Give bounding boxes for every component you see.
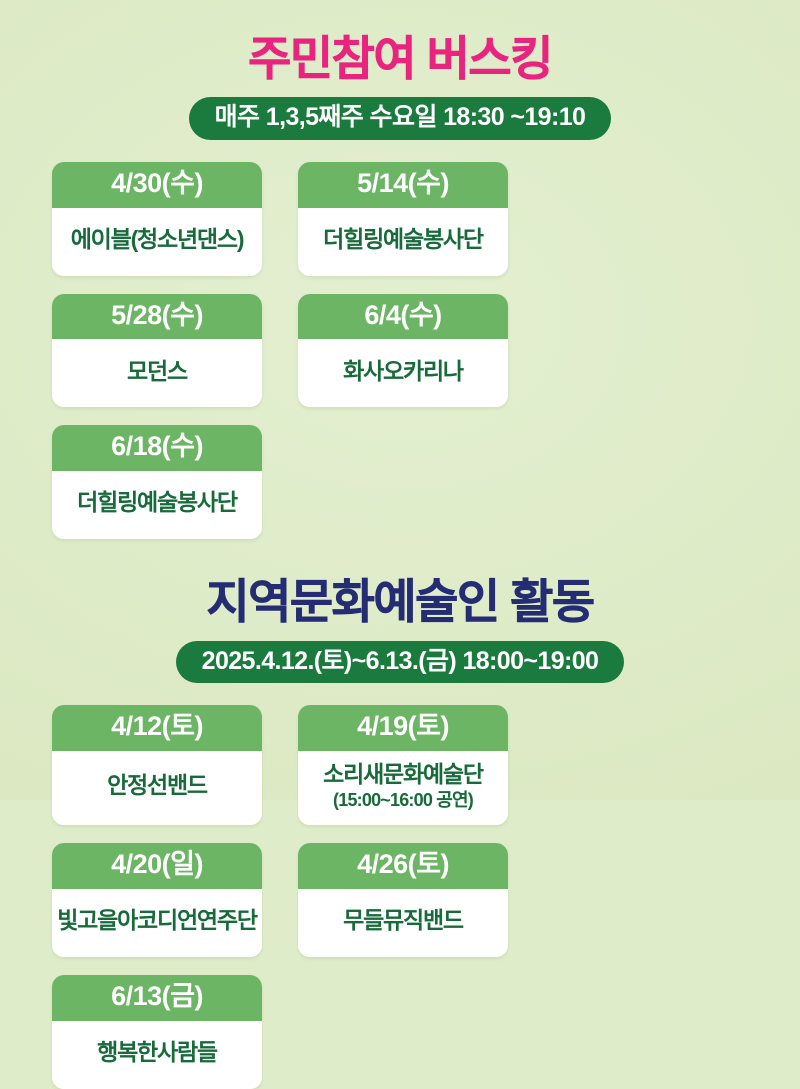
event-card[interactable]: 5/28(수) 모던스: [52, 294, 262, 408]
event-card[interactable]: 6/4(수) 화사오카리나: [298, 294, 508, 408]
section-title-local-artists: 지역문화예술인 활동: [206, 577, 593, 626]
event-card-date: 5/28(수): [52, 294, 262, 340]
event-card-name: 더힐링예술봉사단: [77, 489, 237, 517]
event-card-body: 빛고을아코디언연주단: [52, 889, 262, 957]
event-card[interactable]: 4/12(토) 안정선밴드: [52, 705, 262, 825]
event-card-name: 안정선밴드: [107, 772, 207, 800]
event-card-name: 더힐링예술봉사단: [323, 226, 483, 254]
event-card[interactable]: 4/20(일) 빛고을아코디언연주단: [52, 843, 262, 957]
event-card-name: 행복한사람들: [97, 1039, 217, 1067]
event-card-date: 4/30(수): [52, 162, 262, 208]
event-card-name: 에이블(청소년댄스): [71, 226, 244, 254]
event-card-date: 6/4(수): [298, 294, 508, 340]
section-title-busking: 주민참여 버스킹: [248, 34, 552, 83]
event-card-body: 에이블(청소년댄스): [52, 208, 262, 276]
event-card-body: 행복한사람들: [52, 1021, 262, 1089]
event-card[interactable]: 5/14(수) 더힐링예술봉사단: [298, 162, 508, 276]
event-card-date: 5/14(수): [298, 162, 508, 208]
event-poster: 주민참여 버스킹 매주 1,3,5째주 수요일 18:30 ~19:10 4/3…: [0, 0, 800, 800]
event-card-body: 모던스: [52, 339, 262, 407]
event-card-note: (15:00~16:00 공연): [333, 790, 473, 812]
section-local-artists: 지역문화예술인 활동 2025.4.12.(토)~6.13.(금) 18:00~…: [0, 577, 800, 1088]
event-card-date: 4/20(일): [52, 843, 262, 889]
card-grid-local-artists: 4/12(토) 안정선밴드 4/19(토) 소리새문화예술단 (15:00~16…: [52, 705, 748, 1088]
event-card-name: 무들뮤직밴드: [343, 907, 463, 935]
event-card-date: 6/13(금): [52, 975, 262, 1021]
card-grid-busking: 4/30(수) 에이블(청소년댄스) 5/14(수) 더힐링예술봉사단 5/28…: [52, 162, 748, 539]
event-card-body: 더힐링예술봉사단: [52, 471, 262, 539]
event-card-name: 화사오카리나: [343, 358, 463, 386]
event-card[interactable]: 4/19(토) 소리새문화예술단 (15:00~16:00 공연): [298, 705, 508, 825]
event-card[interactable]: 4/30(수) 에이블(청소년댄스): [52, 162, 262, 276]
event-card-body: 화사오카리나: [298, 339, 508, 407]
event-card[interactable]: 4/26(토) 무들뮤직밴드: [298, 843, 508, 957]
event-card-date: 4/26(토): [298, 843, 508, 889]
event-card-body: 안정선밴드: [52, 751, 262, 825]
event-card-body: 더힐링예술봉사단: [298, 208, 508, 276]
event-card-body: 소리새문화예술단 (15:00~16:00 공연): [298, 751, 508, 825]
event-card-name: 빛고을아코디언연주단: [57, 907, 257, 935]
event-card-date: 4/12(토): [52, 705, 262, 751]
event-card-body: 무들뮤직밴드: [298, 889, 508, 957]
event-card[interactable]: 6/13(금) 행복한사람들: [52, 975, 262, 1089]
event-card-name: 소리새문화예술단: [323, 761, 483, 789]
section-busking: 주민참여 버스킹 매주 1,3,5째주 수요일 18:30 ~19:10 4/3…: [0, 34, 800, 539]
event-card-date: 4/19(토): [298, 705, 508, 751]
section-schedule-local-artists: 2025.4.12.(토)~6.13.(금) 18:00~19:00: [176, 641, 625, 684]
section-schedule-busking: 매주 1,3,5째주 수요일 18:30 ~19:10: [189, 97, 612, 140]
event-card-date: 6/18(수): [52, 425, 262, 471]
event-card-name: 모던스: [127, 358, 187, 386]
event-card[interactable]: 6/18(수) 더힐링예술봉사단: [52, 425, 262, 539]
